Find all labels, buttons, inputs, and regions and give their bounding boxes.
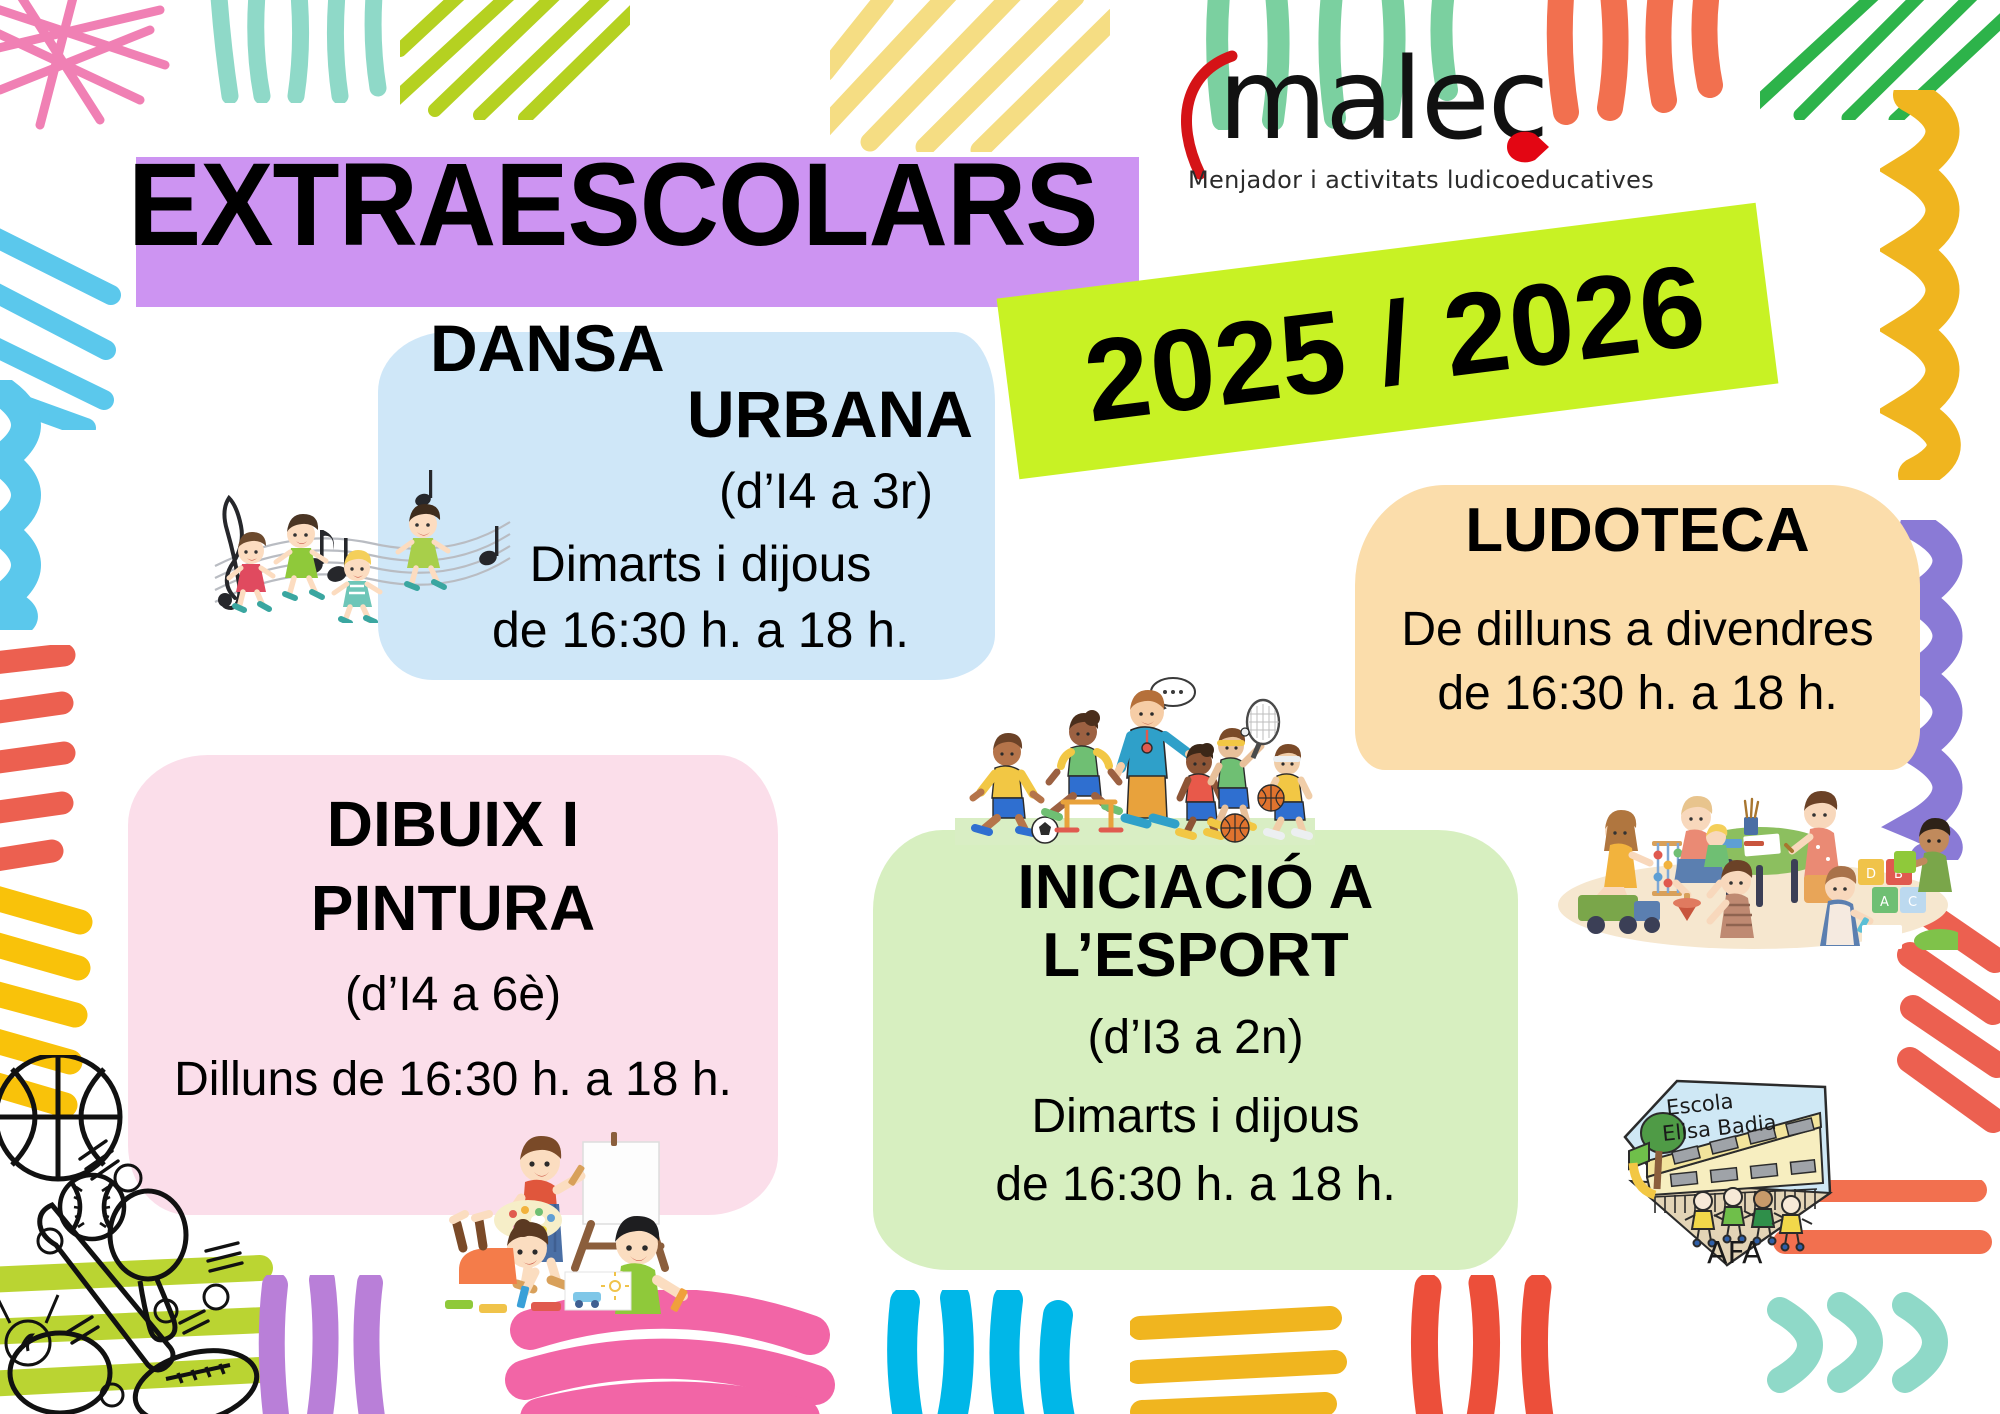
crayon-scribble-lime-top <box>400 0 630 120</box>
dansa-hours: de 16:30 h. a 18 h. <box>378 594 995 667</box>
dansa-age-range: (d’I4 a 3r) <box>378 460 995 523</box>
logo-wordmark: malec <box>1218 44 1547 156</box>
dibuix-title-line2: PINTURA <box>128 875 778 942</box>
svg-text:C: C <box>1908 895 1917 910</box>
esport-hours: de 16:30 h. a 18 h. <box>873 1150 1518 1220</box>
crayon-scribble-teal-top <box>200 0 400 103</box>
esport-title-line2: L’ESPORT <box>873 924 1518 988</box>
malec-logo: malec Menjador i activitats ludicoeducat… <box>1160 48 1580 198</box>
crayon-scribble-coral-left <box>0 645 77 895</box>
ludoteca-days: De dilluns a divendres <box>1355 595 1920 665</box>
crayon-scribble-amber-bottom <box>1130 1300 1350 1414</box>
logo-tagline: Menjador i activitats ludicoeducatives <box>1188 166 1654 194</box>
svg-text:D: D <box>1866 867 1876 882</box>
dansa-title-line1: DANSA <box>378 314 995 383</box>
ludoteca-hours: de 16:30 h. a 18 h. <box>1355 659 1920 729</box>
crayon-scribble-blue-left <box>0 200 126 430</box>
crayon-scribble-cyan-bottom <box>880 1290 1100 1414</box>
dansa-title-line2: URBANA <box>378 380 995 449</box>
svg-text:A: A <box>1880 895 1889 910</box>
activity-card-ludoteca: LUDOTECA De dilluns a divendres de 16:30… <box>1355 485 1920 770</box>
esport-age-range: (d’I3 a 2n) <box>873 1008 1518 1068</box>
ludoteca-title: LUDOTECA <box>1355 499 1920 563</box>
crayon-scribble-yellow-top <box>830 0 1110 152</box>
esport-days: Dimarts i dijous <box>873 1082 1518 1152</box>
dibuix-title-line1: DIBUIX I <box>128 791 778 858</box>
crayon-scribble-pink-bottom <box>500 1290 840 1414</box>
crayon-scribble-red-bottom <box>1400 1275 1590 1414</box>
crayon-scribble-cyan-left <box>0 380 67 630</box>
esport-title-line1: INICIACIÓ A <box>873 856 1518 920</box>
activity-card-dansa: DANSA URBANA (d’I4 a 3r) Dimarts i dijou… <box>378 332 995 680</box>
activity-card-dibuix-pintura: DIBUIX I PINTURA (d’I4 a 6è) Dilluns de … <box>128 755 778 1215</box>
crayon-scribble-yellow-left <box>0 880 100 1120</box>
page-title: EXTRAESCOLARS <box>128 140 1086 270</box>
crayon-scribble-amber-right <box>1880 90 2000 480</box>
svg-text:B: B <box>1894 867 1903 882</box>
poster-canvas: malec Menjador i activitats ludicoeducat… <box>0 0 2000 1414</box>
children-playing-toys-illustration: D B A C <box>1548 755 1958 950</box>
dibuix-age-range: (d’I4 a 6è) <box>128 965 778 1025</box>
activity-card-iniciacio-esport: INICIACIÓ A L’ESPORT (d’I3 a 2n) Dimarts… <box>873 830 1518 1270</box>
crayon-scribble-pink-topleft <box>0 0 190 130</box>
logo-dot-icon <box>1505 128 1551 166</box>
afa-label: AFA <box>1707 1236 1763 1270</box>
crayon-scribble-olive-bottomleft <box>0 1240 280 1414</box>
dansa-days: Dimarts i dijous <box>378 528 995 601</box>
crayon-scribble-coral-right <box>1885 900 2000 1150</box>
coach-and-children-sports-illustration <box>955 650 1315 845</box>
crayon-scribble-purple-bottom <box>250 1275 410 1414</box>
school-badge-afa: Escola Elisa Badia AFA <box>1615 1065 1840 1270</box>
dibuix-schedule: Dilluns de 16:30 h. a 18 h. <box>128 1045 778 1115</box>
crayon-scribble-green-topright <box>1760 0 2000 120</box>
